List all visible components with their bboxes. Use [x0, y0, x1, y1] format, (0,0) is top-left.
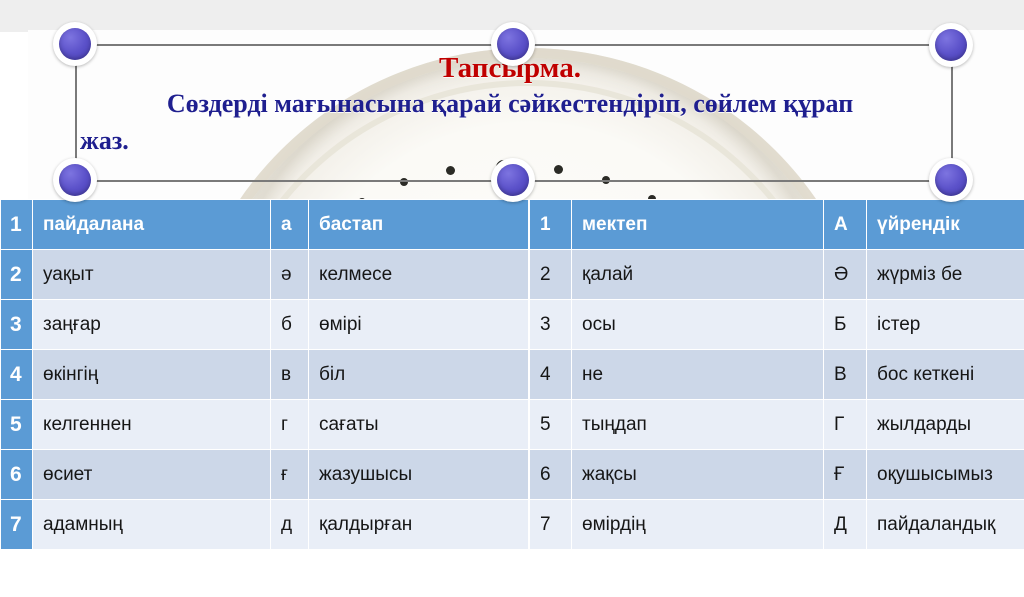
- header-cell-num: 1: [530, 200, 572, 250]
- cell-phrase: оқушысымыз: [867, 450, 1024, 500]
- cell-word: осы: [572, 300, 824, 350]
- handle-top-right[interactable]: [929, 23, 973, 67]
- header-cell-letter: а: [271, 200, 309, 250]
- left-matching-table: 1 пайдалана а бастап 2 уақыт ә келмесе 3…: [0, 199, 529, 550]
- cell-word: келгеннен: [33, 400, 271, 450]
- cell-word: қалай: [572, 250, 824, 300]
- cell-num: 6: [1, 450, 33, 500]
- cell-phrase: келмесе: [309, 250, 529, 300]
- cell-word: уақыт: [33, 250, 271, 300]
- cell-word: өсиет: [33, 450, 271, 500]
- cell-phrase: жазушысы: [309, 450, 529, 500]
- cell-letter: д: [271, 500, 309, 550]
- table-row[interactable]: 2 уақыт ә келмесе: [1, 250, 529, 300]
- page-subtitle: Сөздерді мағынасына қарай сәйкестендіріп…: [60, 86, 960, 160]
- table-header-row: 1 пайдалана а бастап: [1, 200, 529, 250]
- table-row[interactable]: 7 адамның д қалдырған: [1, 500, 529, 550]
- cell-letter: б: [271, 300, 309, 350]
- cell-word: не: [572, 350, 824, 400]
- table-row[interactable]: 3 осы Б істер: [530, 300, 1024, 350]
- table-row[interactable]: 5 тыңдап Г жылдарды: [530, 400, 1024, 450]
- cell-letter: Ғ: [824, 450, 867, 500]
- table-row[interactable]: 6 жақсы Ғ оқушысымыз: [530, 450, 1024, 500]
- cell-num: 7: [1, 500, 33, 550]
- cell-num: 7: [530, 500, 572, 550]
- cell-num: 4: [530, 350, 572, 400]
- cell-num: 2: [1, 250, 33, 300]
- cell-phrase: өмірі: [309, 300, 529, 350]
- slide-canvas: 12 Тапсырма. Сөздерді мағынасына қарай с…: [0, 0, 1024, 597]
- table-row[interactable]: 7 өмірдің Д пайдаландық: [530, 500, 1024, 550]
- cell-word: тыңдап: [572, 400, 824, 450]
- cell-phrase: істер: [867, 300, 1024, 350]
- right-matching-table: 1 мектеп А үйрендік 2 қалай Ә жүрміз бе …: [529, 199, 1024, 550]
- table-row[interactable]: 3 заңғар б өмірі: [1, 300, 529, 350]
- cell-num: 6: [530, 450, 572, 500]
- cell-letter: ә: [271, 250, 309, 300]
- handle-top-left[interactable]: [53, 22, 97, 66]
- handle-bottom-center[interactable]: [491, 158, 535, 202]
- header-cell-phrase: үйрендік: [867, 200, 1024, 250]
- cell-num: 2: [530, 250, 572, 300]
- cell-word: өкінгің: [33, 350, 271, 400]
- header-cell-word: пайдалана: [33, 200, 271, 250]
- cell-letter: Г: [824, 400, 867, 450]
- table-row[interactable]: 4 өкінгің в біл: [1, 350, 529, 400]
- cell-num: 3: [1, 300, 33, 350]
- cell-letter: ғ: [271, 450, 309, 500]
- table-row[interactable]: 5 келгеннен г сағаты: [1, 400, 529, 450]
- cell-num: 3: [530, 300, 572, 350]
- cell-word: адамның: [33, 500, 271, 550]
- table-row[interactable]: 4 не В бос кеткені: [530, 350, 1024, 400]
- cell-num: 5: [530, 400, 572, 450]
- cell-letter: в: [271, 350, 309, 400]
- cell-word: заңғар: [33, 300, 271, 350]
- cell-num: 4: [1, 350, 33, 400]
- header-cell-num: 1: [1, 200, 33, 250]
- table-row[interactable]: 2 қалай Ә жүрміз бе: [530, 250, 1024, 300]
- cell-letter: г: [271, 400, 309, 450]
- subtitle-line-2: жаз.: [60, 123, 960, 160]
- cell-letter: В: [824, 350, 867, 400]
- handle-top-center[interactable]: [491, 22, 535, 66]
- header-cell-letter: А: [824, 200, 867, 250]
- text-box-content[interactable]: Тапсырма. Сөздерді мағынасына қарай сәйк…: [60, 52, 960, 160]
- cell-letter: Б: [824, 300, 867, 350]
- table-header-row: 1 мектеп А үйрендік: [530, 200, 1024, 250]
- cell-letter: Д: [824, 500, 867, 550]
- cell-phrase: сағаты: [309, 400, 529, 450]
- subtitle-line-1: Сөздерді мағынасына қарай сәйкестендіріп…: [167, 89, 853, 118]
- handle-bottom-right[interactable]: [929, 158, 973, 202]
- cell-letter: Ә: [824, 250, 867, 300]
- cell-phrase: жүрміз бе: [867, 250, 1024, 300]
- cell-phrase: біл: [309, 350, 529, 400]
- header-cell-phrase: бастап: [309, 200, 529, 250]
- cell-phrase: бос кеткені: [867, 350, 1024, 400]
- cell-phrase: қалдырған: [309, 500, 529, 550]
- cell-word: жақсы: [572, 450, 824, 500]
- cell-word: өмірдің: [572, 500, 824, 550]
- cell-phrase: жылдарды: [867, 400, 1024, 450]
- cell-phrase: пайдаландық: [867, 500, 1024, 550]
- cell-num: 5: [1, 400, 33, 450]
- handle-bottom-left[interactable]: [53, 158, 97, 202]
- table-row[interactable]: 6 өсиет ғ жазушысы: [1, 450, 529, 500]
- bottom-white-band: [0, 549, 1024, 597]
- header-cell-word: мектеп: [572, 200, 824, 250]
- matching-tables: 1 пайдалана а бастап 2 уақыт ә келмесе 3…: [0, 199, 1024, 550]
